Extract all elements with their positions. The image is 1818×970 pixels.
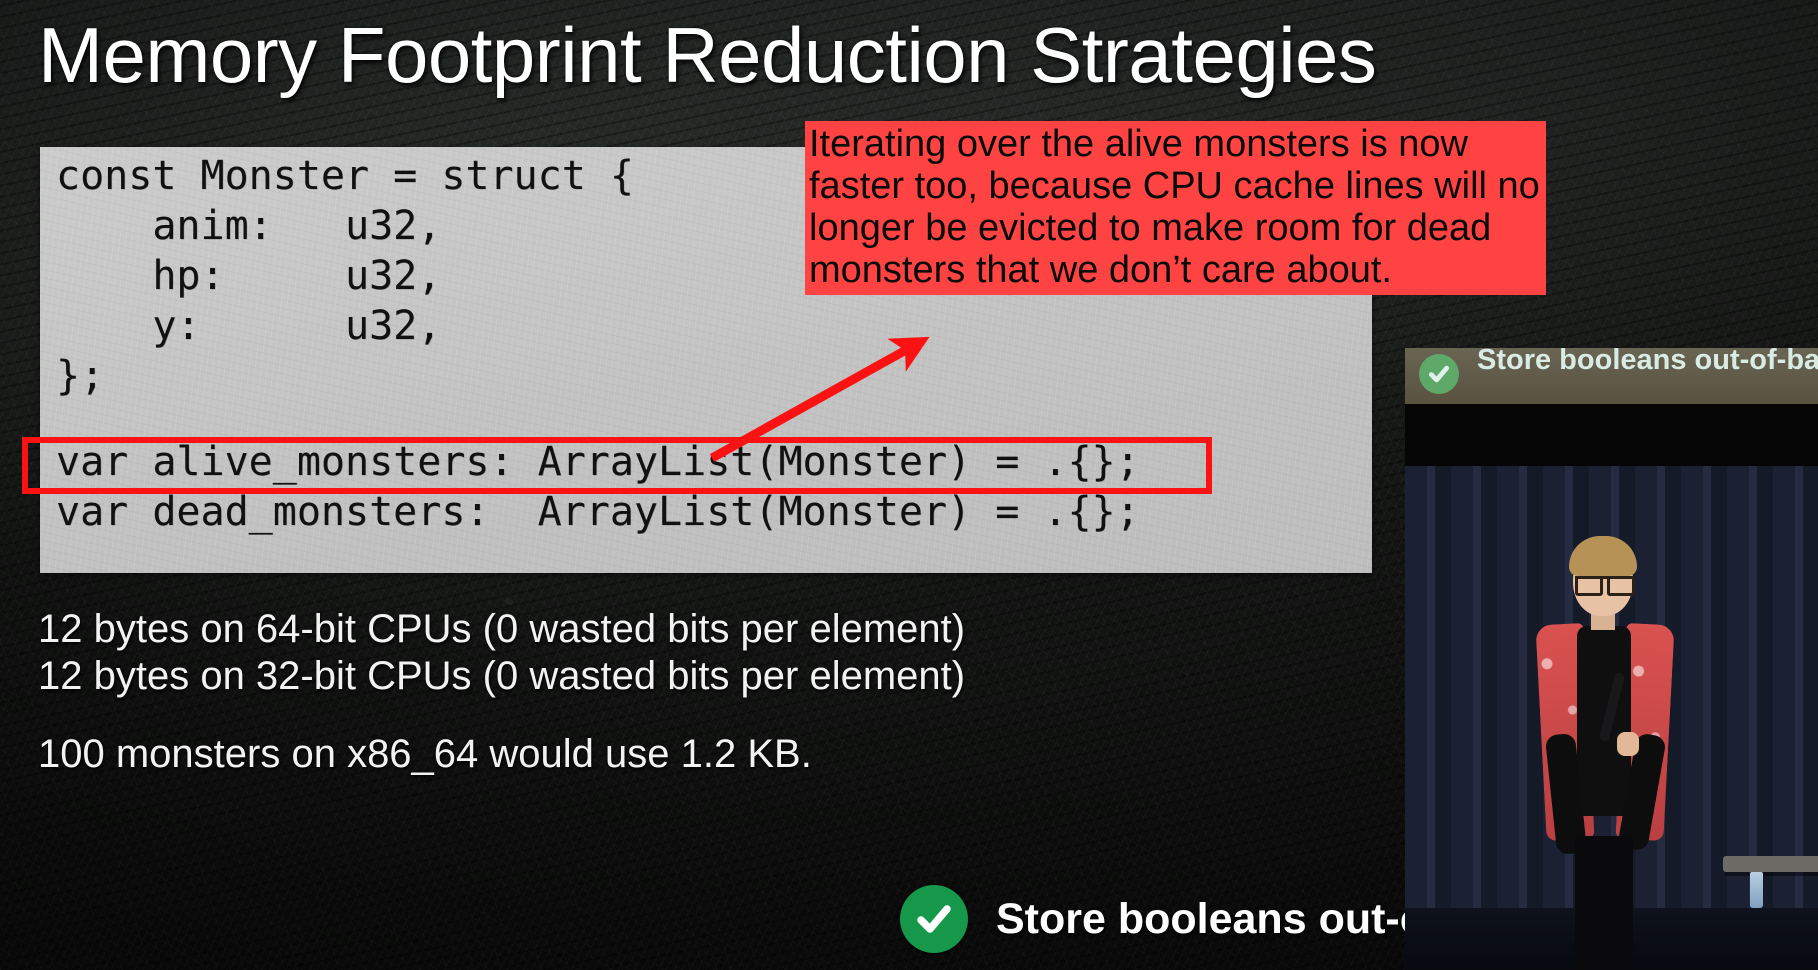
callout-line: monsters that we don’t care about. [809, 249, 1392, 291]
slide-title: Memory Footprint Reduction Strategies [38, 8, 1598, 102]
speaker-legs [1575, 836, 1633, 970]
callout-box: Iterating over the alive monsters is now… [805, 121, 1546, 295]
speaker-video-inset: Store booleans out-of-ba [1405, 348, 1818, 970]
video-projected-slide: Store booleans out-of-ba [1405, 348, 1818, 404]
video-stage-bottle [1750, 872, 1763, 908]
fact-line-64bit: 12 bytes on 64-bit CPUs (0 wasted bits p… [38, 605, 965, 653]
callout-line: Iterating over the alive monsters is now [809, 123, 1468, 165]
code-line: }; [56, 351, 104, 401]
code-line: y: u32, [56, 301, 441, 351]
code-line: hp: u32, [56, 251, 441, 301]
fact-line-total-memory: 100 monsters on x86_64 would use 1.2 KB. [38, 730, 812, 778]
fact-line-32bit: 12 bytes on 32-bit CPUs (0 wasted bits p… [38, 652, 965, 700]
check-circle-icon [1419, 354, 1459, 394]
code-line: anim: u32, [56, 201, 441, 251]
code-line-highlighted: var alive_monsters: ArrayList(Monster) =… [56, 437, 1140, 487]
speaker-hand [1617, 732, 1639, 756]
check-circle-icon [900, 885, 968, 953]
callout-line: longer be evicted to make room for dead [809, 207, 1491, 249]
code-line: var dead_monsters: ArrayList(Monster) = … [56, 487, 1140, 537]
video-stage-darkband [1405, 404, 1818, 466]
video-stage-table [1723, 856, 1818, 872]
presentation-slide: Memory Footprint Reduction Strategies co… [0, 0, 1818, 970]
callout-line: faster too, because CPU cache lines will… [809, 165, 1540, 207]
speaker-glasses-bridge [1575, 576, 1631, 592]
code-line: const Monster = struct { [56, 151, 634, 201]
video-projected-slide-label: Store booleans out-of-ba [1477, 348, 1818, 377]
speaker-figure [1525, 544, 1685, 970]
